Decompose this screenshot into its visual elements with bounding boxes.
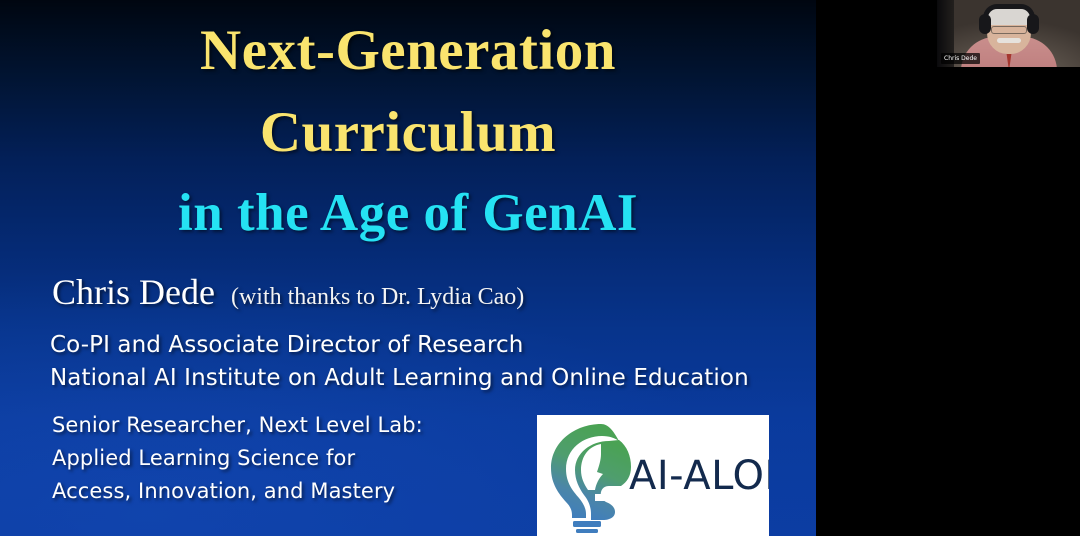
participant-name-label: Chris Dede [941, 53, 980, 64]
slide-title-line-2: Curriculum [0, 92, 816, 174]
slide-title-line-1: Next-Generation [0, 10, 816, 92]
lightbulb-face-icon [539, 418, 635, 533]
presenter-name: Chris Dede [52, 272, 215, 312]
screen-root: Next-Generation Curriculum in the Age of… [0, 0, 1080, 536]
headphone-right-cup [1027, 14, 1039, 34]
lab-line-2: Applied Learning Science for [52, 442, 423, 475]
webcam-tile[interactable]: Chris Dede [937, 0, 1080, 67]
slide-title-block: Next-Generation Curriculum in the Age of… [0, 10, 816, 252]
presentation-slide: Next-Generation Curriculum in the Age of… [0, 0, 816, 536]
presenter-lab-role: Senior Researcher, Next Level Lab: Appli… [52, 409, 423, 508]
slide-content: Next-Generation Curriculum in the Age of… [0, 0, 816, 536]
lab-line-1: Senior Researcher, Next Level Lab: [52, 409, 423, 442]
presenter-byline: Chris Dede (with thanks to Dr. Lydia Cao… [52, 272, 524, 312]
affiliation-line-1: Co-PI and Associate Director of Research [50, 329, 749, 362]
affiliation-line-2: National AI Institute on Adult Learning … [50, 362, 749, 395]
lab-line-3: Access, Innovation, and Mastery [52, 475, 423, 508]
slide-subtitle: in the Age of GenAI [0, 174, 816, 252]
presenter-affiliation: Co-PI and Associate Director of Research… [50, 329, 749, 395]
presenter-acknowledgement: (with thanks to Dr. Lydia Cao) [231, 283, 524, 311]
headphone-left-cup [979, 14, 991, 34]
participant-moustache [997, 38, 1021, 43]
ai-aloe-logo: AI-ALOE [537, 415, 769, 536]
logo-row: AI-ALOE [537, 415, 769, 536]
logo-wordmark: AI-ALOE [629, 453, 769, 499]
participant-glasses [991, 26, 1027, 34]
